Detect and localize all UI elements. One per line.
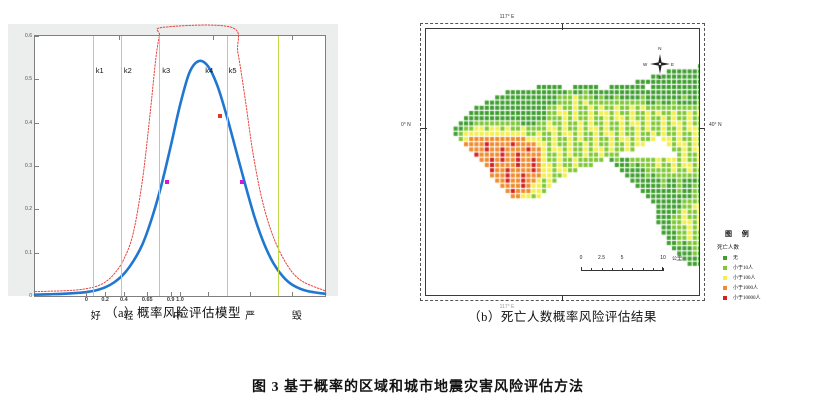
threshold-line-k2 <box>121 36 122 296</box>
y-tick-label-6: 0.6 <box>25 33 32 39</box>
tick-left <box>421 128 427 129</box>
figure-main-caption: 图 3 基于概率的区域和城市地震灾害风险评估方法 <box>0 376 836 396</box>
y-tick-label-1: 0.1 <box>25 250 32 256</box>
legend-swatch-icon <box>723 276 727 280</box>
y-tick-mark <box>35 296 39 297</box>
x-tick-mark <box>171 292 172 296</box>
x-tick-mark <box>292 292 293 296</box>
coord-label-right: 40° N <box>709 122 722 128</box>
x-tick-mark <box>86 292 87 296</box>
scalebar-unit: 公里 <box>672 255 682 262</box>
legend-item-1[interactable]: 小于10人 <box>717 264 827 271</box>
panel-b-fatality-map: N E S W 0 2.5 5 10 公里 <box>355 14 830 324</box>
legend-subtitle: 死亡人数 <box>717 243 827 251</box>
threshold-label-k4: k4 <box>205 66 213 75</box>
threshold-line-k4 <box>227 36 228 296</box>
x-tick-mark-top <box>119 36 120 40</box>
legend-items: 无小于10人小于100人小于1000人小于10000人 <box>717 254 827 301</box>
caption-panel-a: （a）概率风险评估模型 <box>8 302 338 321</box>
legend-swatch-icon <box>723 286 727 290</box>
map-frame: N E S W 0 2.5 5 10 公里 <box>420 23 705 301</box>
plot-figure-background: 00.10.20.30.40.50.600.20.40.650.91.0k1k2… <box>8 24 338 296</box>
legend-item-0[interactable]: 无 <box>717 254 827 261</box>
y-tick-mark <box>35 209 39 210</box>
map-legend: 图 例 死亡人数 无小于10人小于100人小于1000人小于10000人 <box>717 229 827 301</box>
x-tick-mark <box>105 292 106 296</box>
panel-a-probability-model: 00.10.20.30.40.50.600.20.40.650.91.0k1k2… <box>8 24 338 324</box>
legend-label: 小于10人 <box>733 264 753 271</box>
magenta-point-left <box>165 180 169 184</box>
series-1 <box>35 25 325 292</box>
red-point-right <box>218 114 222 118</box>
legend-label: 小于10000人 <box>733 294 761 301</box>
coord-label-top: 117° E <box>500 14 515 20</box>
legend-title: 图 例 <box>717 229 827 239</box>
coord-label-left: 0° N <box>401 122 411 128</box>
scalebar-tick-3: 10 <box>660 255 666 261</box>
curve-canvas <box>35 36 325 296</box>
x-tick-mark <box>208 292 209 296</box>
x-tick-mark <box>147 292 148 296</box>
legend-label: 小于100人 <box>733 274 756 281</box>
y-tick-mark <box>35 123 39 124</box>
y-tick-label-5: 0.5 <box>25 76 32 82</box>
compass-rose-icon: N E S W <box>643 47 677 81</box>
y-tick-mark <box>35 166 39 167</box>
compass-north-label: N <box>658 46 661 51</box>
threshold-label-k2: k2 <box>124 66 132 75</box>
scalebar-tick-0: 0 <box>580 255 583 261</box>
x-tick-mark <box>180 292 181 296</box>
plot-axes: 00.10.20.30.40.50.600.20.40.650.91.0k1k2… <box>34 35 326 297</box>
caption-panel-b: （b）死亡人数概率风险评估结果 <box>385 306 740 325</box>
x-tick-mark-top <box>292 36 293 40</box>
series-0 <box>35 61 325 295</box>
y-tick-mark <box>35 36 39 37</box>
y-tick-label-2: 0.2 <box>25 206 32 212</box>
x-tick-mark-top <box>213 36 214 40</box>
tick-top <box>562 24 563 30</box>
threshold-label-k5: k5 <box>229 66 237 75</box>
magenta-point-right <box>240 180 244 184</box>
legend-item-2[interactable]: 小于100人 <box>717 274 827 281</box>
y-tick-label-3: 0.3 <box>25 163 32 169</box>
compass-west-label: W <box>643 62 647 67</box>
scalebar-tick-2: 5 <box>621 255 624 261</box>
map-plot-area: N E S W 0 2.5 5 10 公里 <box>425 28 700 296</box>
y-tick-mark <box>35 79 39 80</box>
threshold-label-k1: k1 <box>96 66 104 75</box>
figure-container: 00.10.20.30.40.50.600.20.40.650.91.0k1k2… <box>0 0 836 414</box>
threshold-line-k3 <box>159 36 160 296</box>
legend-item-4[interactable]: 小于10000人 <box>717 294 827 301</box>
legend-label: 无 <box>733 254 738 261</box>
legend-swatch-icon <box>723 256 727 260</box>
legend-label: 小于1000人 <box>733 284 758 291</box>
threshold-line-k1 <box>93 36 94 296</box>
y-tick-label-4: 0.4 <box>25 120 32 126</box>
tick-right <box>699 128 705 129</box>
scalebar-tick-1: 2.5 <box>598 255 605 261</box>
y-tick-label-0: 0 <box>29 293 32 299</box>
x-tick-mark <box>124 292 125 296</box>
threshold-line-k5 <box>278 36 279 296</box>
tick-bottom <box>562 295 563 301</box>
compass-south-label: S <box>659 75 662 80</box>
x-tick-mark <box>250 292 251 296</box>
compass-east-label: E <box>671 62 674 67</box>
legend-swatch-icon <box>723 266 727 270</box>
scale-bar: 0 2.5 5 10 公里 <box>581 255 683 275</box>
legend-item-3[interactable]: 小于1000人 <box>717 284 827 291</box>
y-tick-mark <box>35 253 39 254</box>
threshold-label-k3: k3 <box>162 66 170 75</box>
legend-swatch-icon <box>723 296 727 300</box>
